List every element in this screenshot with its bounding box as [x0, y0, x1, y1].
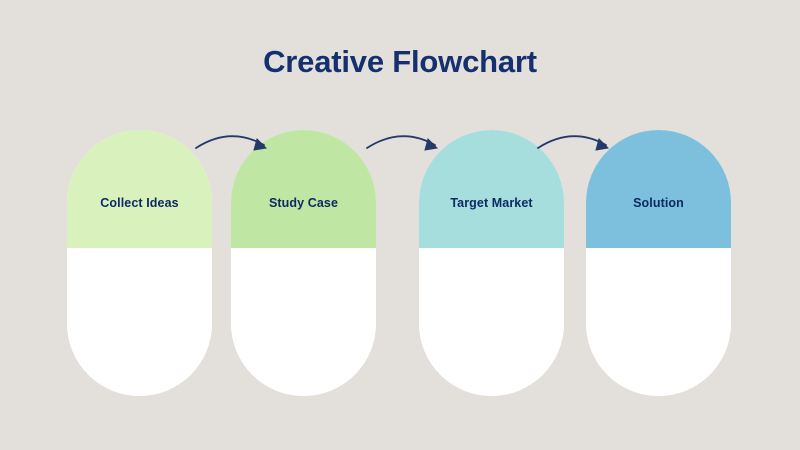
flow-node-solution[interactable]: Solution [586, 130, 731, 396]
flow-node-top-fill [419, 130, 564, 248]
flow-node-bottom-fill [67, 248, 212, 396]
flow-node-bottom-fill [586, 248, 731, 396]
flowchart-diagram: Collect Ideas Study Case Target Market S… [0, 0, 800, 450]
flow-node-label: Target Market [419, 196, 564, 210]
flow-node-top-fill [67, 130, 212, 248]
slide-canvas: Creative Flowchart Collect Ideas Study C… [0, 0, 800, 450]
flow-node-label: Collect Ideas [67, 196, 212, 210]
flow-node-label: Solution [586, 196, 731, 210]
flow-node-study-case[interactable]: Study Case [231, 130, 376, 396]
flow-node-collect-ideas[interactable]: Collect Ideas [67, 130, 212, 396]
flow-node-bottom-fill [231, 248, 376, 396]
flow-node-top-fill [586, 130, 731, 248]
flow-node-bottom-fill [419, 248, 564, 396]
flow-node-label: Study Case [231, 196, 376, 210]
flow-node-top-fill [231, 130, 376, 248]
flow-node-target-market[interactable]: Target Market [419, 130, 564, 396]
